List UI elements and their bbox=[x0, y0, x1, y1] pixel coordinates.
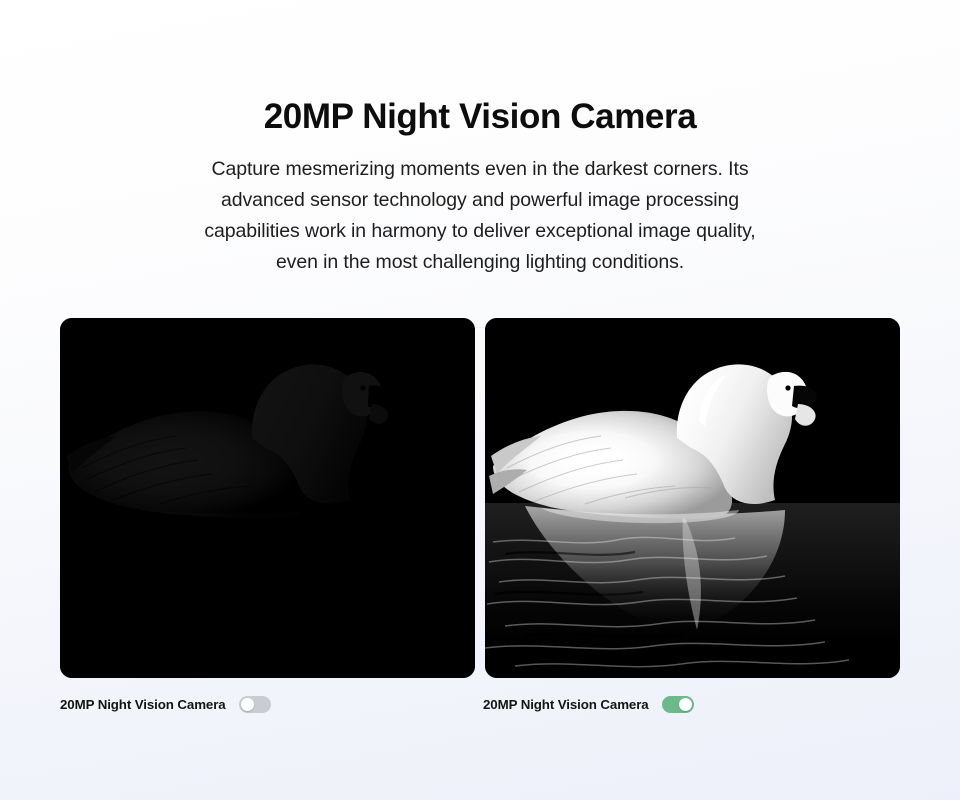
feature-header: 20MP Night Vision Camera Capture mesmeri… bbox=[0, 0, 960, 278]
caption-label-right: 20MP Night Vision Camera bbox=[483, 697, 649, 712]
comparison-panel-night-vision-off[interactable] bbox=[60, 318, 475, 678]
description-line-3: capabilities work in harmony to deliver … bbox=[70, 216, 890, 247]
description-line-1: Capture mesmerizing moments even in the … bbox=[70, 154, 890, 185]
page-title: 20MP Night Vision Camera bbox=[0, 0, 960, 138]
night-vision-toggle-off[interactable] bbox=[239, 696, 271, 713]
caption-night-vision-on: 20MP Night Vision Camera bbox=[483, 692, 694, 716]
comparison-panel-night-vision-on[interactable] bbox=[485, 318, 900, 678]
night-vision-feature-section: 20MP Night Vision Camera Capture mesmeri… bbox=[0, 0, 960, 800]
feature-description: Capture mesmerizing moments even in the … bbox=[70, 138, 890, 278]
description-line-4: even in the most challenging lighting co… bbox=[70, 247, 890, 278]
description-line-2: advanced sensor technology and powerful … bbox=[70, 185, 890, 216]
toggle-knob bbox=[679, 698, 692, 711]
caption-night-vision-off: 20MP Night Vision Camera bbox=[60, 692, 271, 716]
night-vision-toggle-on[interactable] bbox=[662, 696, 694, 713]
comparison-captions: 20MP Night Vision Camera 20MP Night Visi… bbox=[60, 692, 900, 716]
caption-label-left: 20MP Night Vision Camera bbox=[60, 697, 226, 712]
swan-photo-bright bbox=[485, 318, 900, 678]
swan-photo-dark bbox=[60, 318, 475, 678]
image-comparison bbox=[60, 318, 900, 678]
toggle-knob bbox=[241, 698, 254, 711]
